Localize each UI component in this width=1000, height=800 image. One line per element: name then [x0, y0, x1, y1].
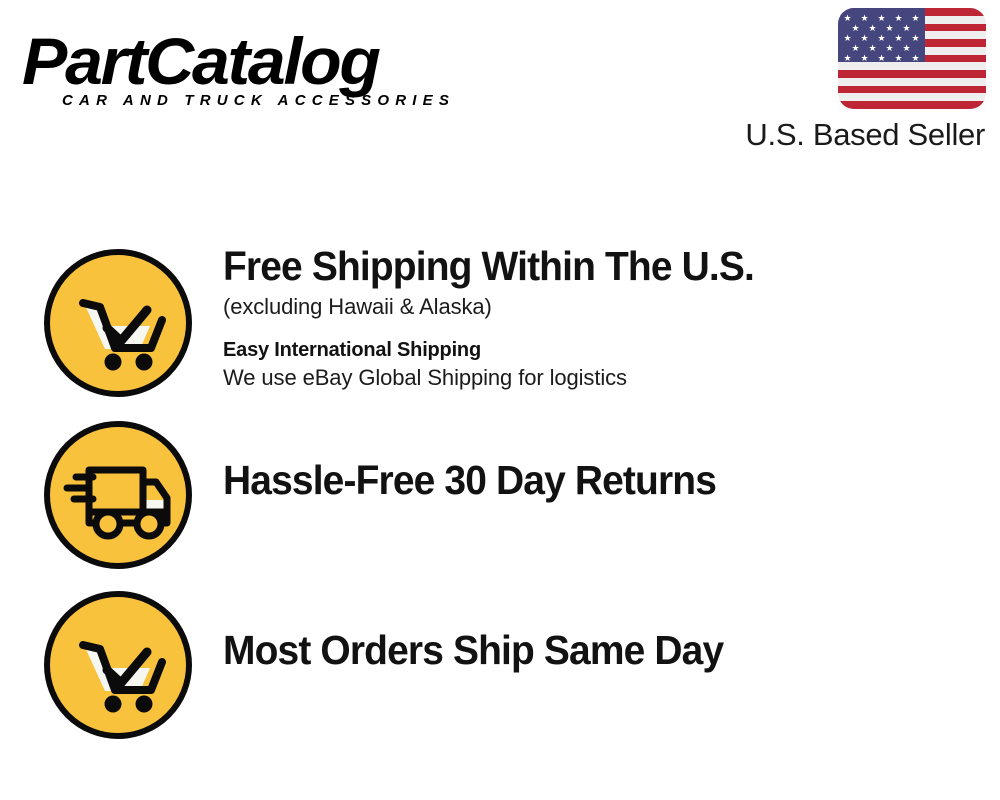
brand-wordmark: PartCatalog: [22, 24, 379, 98]
cart-check-icon: [43, 590, 193, 740]
feature-row: Free Shipping Within The U.S. (excluding…: [0, 240, 1000, 412]
feature-title: Most Orders Ship Same Day: [223, 626, 723, 674]
feature-subtitle: Easy International Shipping: [223, 335, 481, 365]
us-flag-icon: ★ ★ ★ ★ ★ ★ ★ ★ ★ ★ ★ ★ ★ ★ ★ ★ ★ ★ ★ ★: [838, 8, 986, 109]
feature-note: (excluding Hawaii & Alaska): [223, 292, 492, 322]
feature-row: Hassle-Free 30 Day Returns: [0, 412, 1000, 582]
us-based-seller-label: U.S. Based Seller: [716, 116, 985, 154]
delivery-truck-icon: [43, 420, 193, 570]
page-header: PartCatalog CAR AND TRUCK ACCESSORIES ★ …: [0, 0, 1000, 170]
us-based-seller-badge: ★ ★ ★ ★ ★ ★ ★ ★ ★ ★ ★ ★ ★ ★ ★ ★ ★ ★ ★ ★: [716, 8, 986, 154]
brand-tagline: CAR AND TRUCK ACCESSORIES: [62, 92, 455, 109]
feature-title: Free Shipping Within The U.S.: [223, 242, 754, 290]
flag-canton-icon: ★ ★ ★ ★ ★ ★ ★ ★ ★ ★ ★ ★ ★ ★ ★ ★ ★ ★ ★ ★: [838, 8, 925, 62]
feature-subtext: We use eBay Global Shipping for logistic…: [223, 363, 627, 393]
brand-logo[interactable]: PartCatalog CAR AND TRUCK ACCESSORIES: [22, 24, 492, 112]
feature-row: Most Orders Ship Same Day: [0, 582, 1000, 752]
feature-title: Hassle-Free 30 Day Returns: [223, 456, 716, 504]
cart-check-icon: [43, 248, 193, 398]
